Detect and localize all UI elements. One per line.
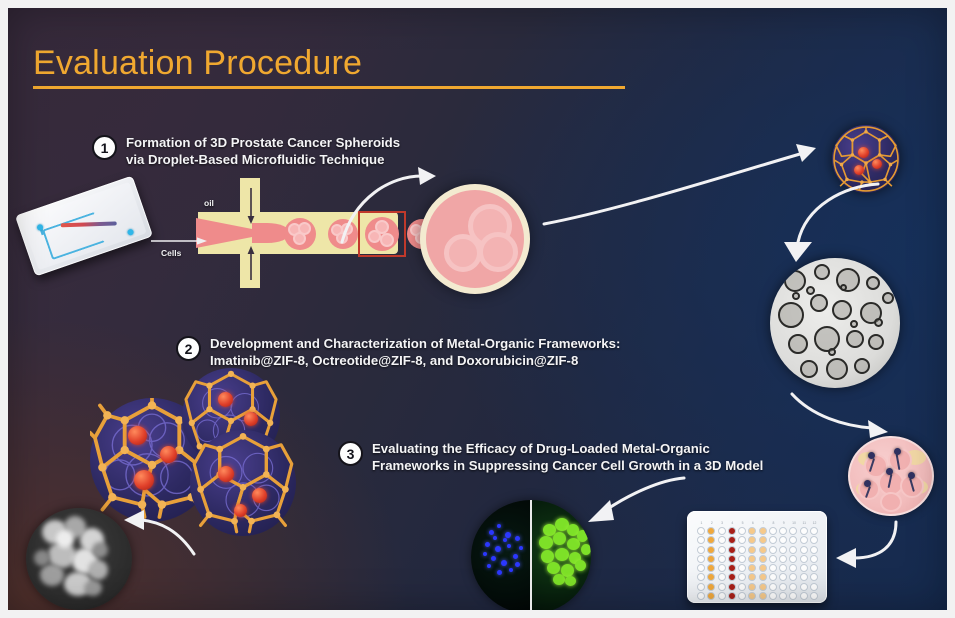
plate-well[interactable] bbox=[697, 555, 705, 563]
plate-well[interactable] bbox=[769, 564, 777, 572]
sem-micrograph bbox=[26, 508, 132, 610]
plate-well[interactable] bbox=[738, 592, 746, 600]
arrow-spheroid-to-cage bbox=[538, 138, 838, 248]
plate-well[interactable] bbox=[769, 536, 777, 544]
plate-well[interactable] bbox=[718, 583, 726, 591]
plate-well[interactable] bbox=[810, 555, 818, 563]
plate-well[interactable] bbox=[728, 592, 736, 600]
plate-well[interactable] bbox=[697, 592, 705, 600]
drug-molecule bbox=[244, 412, 258, 426]
step-2: 2 Development and Characterization of Me… bbox=[176, 335, 620, 369]
plate-well[interactable] bbox=[789, 592, 797, 600]
arrow-spheroid-to-plate bbox=[830, 520, 940, 600]
plate-well[interactable] bbox=[718, 527, 726, 535]
plate-well[interactable] bbox=[738, 583, 746, 591]
plate-well[interactable] bbox=[759, 536, 767, 544]
plate-well[interactable] bbox=[748, 527, 756, 535]
plate-well[interactable] bbox=[697, 536, 705, 544]
plate-well[interactable] bbox=[800, 592, 808, 600]
plate-well[interactable] bbox=[759, 592, 767, 600]
zif-8-cage-large bbox=[190, 430, 296, 536]
droplet bbox=[328, 219, 358, 249]
col-label: 10 bbox=[789, 521, 798, 525]
step-3-badge: 3 bbox=[338, 441, 363, 466]
image-divider bbox=[530, 500, 532, 610]
plate-well[interactable] bbox=[707, 583, 715, 591]
microfluidic-chip-slide bbox=[15, 176, 153, 277]
spheroid-cell bbox=[478, 232, 518, 272]
plate-well[interactable] bbox=[738, 546, 746, 554]
plate-well[interactable] bbox=[707, 555, 715, 563]
spheroid-cell bbox=[880, 492, 902, 512]
drug-molecule bbox=[218, 466, 234, 482]
plate-well[interactable] bbox=[738, 564, 746, 572]
col-label: 8 bbox=[769, 521, 778, 525]
chip-channel-loop bbox=[42, 212, 105, 260]
col-label: 12 bbox=[810, 521, 819, 525]
plate-well[interactable] bbox=[800, 527, 808, 535]
blue-channel-panel bbox=[471, 500, 531, 610]
plate-well[interactable] bbox=[759, 546, 767, 554]
col-label: 11 bbox=[800, 521, 809, 525]
col-label: 5 bbox=[738, 521, 747, 525]
cells-label: Cells bbox=[161, 248, 181, 258]
drug-molecule bbox=[252, 488, 267, 503]
plate-well[interactable] bbox=[779, 583, 787, 591]
plate-well[interactable] bbox=[748, 592, 756, 600]
plate-well[interactable] bbox=[728, 573, 736, 581]
plate-well[interactable] bbox=[810, 527, 818, 535]
plate-well[interactable] bbox=[800, 583, 808, 591]
plate-well[interactable] bbox=[707, 546, 715, 554]
plate-well[interactable] bbox=[810, 583, 818, 591]
col-label: 3 bbox=[718, 521, 727, 525]
drug-molecule bbox=[134, 470, 154, 490]
plate-well[interactable] bbox=[707, 564, 715, 572]
plate-well-grid[interactable] bbox=[697, 527, 819, 600]
figure-canvas: Evaluation Procedure 1 Formation of 3D P… bbox=[8, 8, 947, 610]
plate-well[interactable] bbox=[779, 527, 787, 535]
plate-well[interactable] bbox=[759, 573, 767, 581]
col-label: 6 bbox=[748, 521, 757, 525]
plate-well[interactable] bbox=[779, 573, 787, 581]
droplet bbox=[284, 218, 316, 250]
plate-well[interactable] bbox=[718, 592, 726, 600]
step-2-badge: 2 bbox=[176, 336, 201, 361]
spheroid-cell bbox=[444, 234, 482, 272]
zif-8-cage-icon bbox=[832, 125, 900, 193]
step-1-label: Formation of 3D Prostate Cancer Spheroid… bbox=[126, 134, 400, 168]
step-2-label: Development and Characterization of Meta… bbox=[210, 335, 620, 369]
96-well-plate[interactable]: 1 2 3 4 5 6 7 8 9 10 11 12 bbox=[687, 511, 827, 603]
plate-well[interactable] bbox=[748, 564, 756, 572]
plate-column-headers: 1 2 3 4 5 6 7 8 9 10 11 12 bbox=[697, 521, 819, 525]
drug-molecule bbox=[128, 426, 147, 445]
page-title: Evaluation Procedure bbox=[33, 46, 625, 80]
plate-well[interactable] bbox=[718, 536, 726, 544]
plate-well[interactable] bbox=[789, 564, 797, 572]
plate-well[interactable] bbox=[728, 536, 736, 544]
drug-molecule bbox=[218, 392, 233, 407]
flow-focusing-junction bbox=[198, 178, 398, 288]
plate-well[interactable] bbox=[748, 583, 756, 591]
plate-well[interactable] bbox=[748, 546, 756, 554]
plate-well[interactable] bbox=[789, 555, 797, 563]
col-label: 9 bbox=[779, 521, 788, 525]
plate-well[interactable] bbox=[697, 527, 705, 535]
plate-well[interactable] bbox=[728, 546, 736, 554]
plate-well[interactable] bbox=[728, 527, 736, 535]
drug-molecule bbox=[872, 159, 882, 169]
plate-well[interactable] bbox=[707, 592, 715, 600]
plate-well[interactable] bbox=[800, 573, 808, 581]
oil-label: oil bbox=[204, 198, 214, 208]
plate-well[interactable] bbox=[697, 573, 705, 581]
treated-spheroid bbox=[848, 436, 934, 516]
plate-well[interactable] bbox=[800, 564, 808, 572]
plate-well[interactable] bbox=[759, 527, 767, 535]
green-channel-panel bbox=[531, 500, 591, 610]
plate-well[interactable] bbox=[769, 555, 777, 563]
plate-well[interactable] bbox=[769, 527, 777, 535]
step-1-badge: 1 bbox=[92, 135, 117, 160]
plate-well[interactable] bbox=[769, 546, 777, 554]
step-3: 3 Evaluating the Efficacy of Drug-Loaded… bbox=[338, 440, 763, 474]
fluorescence-assay-image bbox=[471, 500, 591, 610]
plate-well[interactable] bbox=[728, 555, 736, 563]
plate-well[interactable] bbox=[748, 573, 756, 581]
zif-8-nanoparticle-cluster bbox=[86, 368, 296, 528]
plate-well[interactable] bbox=[718, 573, 726, 581]
col-label: 1 bbox=[697, 521, 706, 525]
plate-well[interactable] bbox=[779, 555, 787, 563]
drug-molecule bbox=[160, 446, 177, 463]
cage-lattice bbox=[190, 430, 296, 536]
plate-well[interactable] bbox=[789, 527, 797, 535]
plate-well[interactable] bbox=[789, 536, 797, 544]
plate-well[interactable] bbox=[789, 583, 797, 591]
plate-well[interactable] bbox=[738, 555, 746, 563]
plate-well[interactable] bbox=[718, 555, 726, 563]
plate-well[interactable] bbox=[769, 573, 777, 581]
plate-well[interactable] bbox=[810, 536, 818, 544]
plate-well[interactable] bbox=[707, 536, 715, 544]
drug-molecule bbox=[854, 165, 864, 175]
droplet-highlight-box bbox=[358, 211, 406, 257]
plate-well[interactable] bbox=[697, 564, 705, 572]
col-label: 7 bbox=[759, 521, 768, 525]
plate-well[interactable] bbox=[728, 583, 736, 591]
plate-well[interactable] bbox=[769, 592, 777, 600]
cell bbox=[293, 232, 306, 245]
cage-lattice bbox=[832, 125, 900, 193]
plate-well[interactable] bbox=[697, 546, 705, 554]
plate-well[interactable] bbox=[697, 583, 705, 591]
plate-well[interactable] bbox=[738, 527, 746, 535]
plate-well[interactable] bbox=[759, 555, 767, 563]
plate-well[interactable] bbox=[800, 546, 808, 554]
plate-well[interactable] bbox=[707, 573, 715, 581]
plate-well[interactable] bbox=[810, 564, 818, 572]
plate-well[interactable] bbox=[769, 583, 777, 591]
plate-well[interactable] bbox=[779, 546, 787, 554]
plate-well[interactable] bbox=[759, 583, 767, 591]
col-label: 2 bbox=[707, 521, 716, 525]
plate-well[interactable] bbox=[789, 573, 797, 581]
plate-well[interactable] bbox=[718, 546, 726, 554]
figure-root: Evaluation Procedure 1 Formation of 3D P… bbox=[0, 0, 955, 618]
plate-well[interactable] bbox=[759, 564, 767, 572]
plate-well[interactable] bbox=[810, 546, 818, 554]
step-1: 1 Formation of 3D Prostate Cancer Sphero… bbox=[92, 134, 400, 168]
plate-well[interactable] bbox=[718, 564, 726, 572]
plate-well[interactable] bbox=[748, 555, 756, 563]
brightfield-microscopy-image bbox=[770, 258, 900, 388]
plate-well[interactable] bbox=[779, 536, 787, 544]
col-label: 4 bbox=[728, 521, 737, 525]
plate-well[interactable] bbox=[728, 564, 736, 572]
plate-well[interactable] bbox=[738, 573, 746, 581]
plate-well[interactable] bbox=[779, 592, 787, 600]
drug-molecule bbox=[234, 504, 247, 517]
plate-well[interactable] bbox=[748, 536, 756, 544]
chip-surface bbox=[21, 182, 146, 270]
plate-well[interactable] bbox=[707, 527, 715, 535]
plate-well[interactable] bbox=[738, 536, 746, 544]
chip-port-outlet bbox=[127, 228, 135, 236]
figure-title-block: Evaluation Procedure bbox=[33, 46, 625, 89]
cell bbox=[336, 232, 348, 244]
plate-well[interactable] bbox=[810, 592, 818, 600]
plate-well[interactable] bbox=[779, 564, 787, 572]
plate-well[interactable] bbox=[789, 546, 797, 554]
plate-well[interactable] bbox=[800, 555, 808, 563]
plate-well[interactable] bbox=[800, 536, 808, 544]
drug-molecule bbox=[858, 147, 869, 158]
arrow-cage-to-brightfield bbox=[770, 180, 890, 270]
3d-spheroid-droplet bbox=[420, 184, 530, 294]
title-underline bbox=[33, 86, 625, 89]
step-3-label: Evaluating the Efficacy of Drug-Loaded M… bbox=[372, 440, 763, 474]
plate-well[interactable] bbox=[810, 573, 818, 581]
